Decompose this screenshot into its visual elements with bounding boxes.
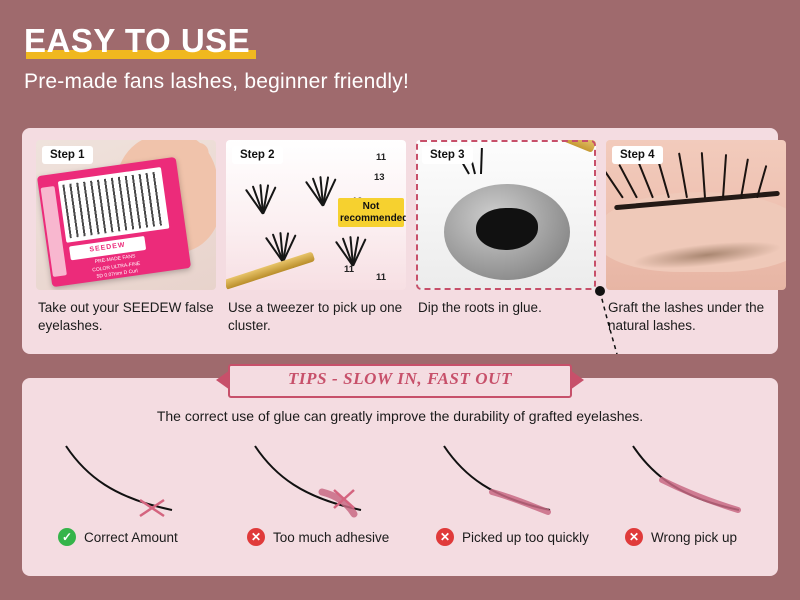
tips-legend-row: ✓ Correct Amount ✕ Too much adhesive ✕ P… (22, 528, 778, 546)
header: EASY TO USE Pre-made fans lashes, beginn… (24, 24, 776, 94)
lash-strand (636, 159, 654, 199)
not-recommended-badge: Not recommended (338, 198, 404, 227)
step-badge-3: Step 3 (422, 146, 473, 164)
tip-item-1: ✓ Correct Amount (22, 528, 211, 546)
cross-circle-icon: ✕ (247, 528, 265, 546)
step-image-1: SEEDEW PRE-MADE FANS COLOR ULTRA-FINE 5D… (36, 140, 216, 290)
lash-tray: SEEDEW PRE-MADE FANS COLOR ULTRA-FINE 5D… (37, 157, 191, 287)
step-image-3: Step 3 (416, 140, 596, 290)
lash-strand (678, 153, 688, 199)
tip-item-3: ✕ Picked up too quickly (400, 528, 589, 546)
poster-root: EASY TO USE Pre-made fans lashes, beginn… (0, 0, 800, 600)
fan-count-label: 11 (376, 152, 386, 163)
tips-panel: TIPS - SLOW IN, FAST OUT The correct use… (22, 378, 778, 576)
step-caption-1: Take out your SEEDEW false eyelashes. (36, 299, 216, 335)
step-card-2: 11 13 12 11 11 11 Not recommended Step 2… (226, 140, 406, 335)
tweezer-illustration (226, 251, 315, 290)
step-badge-4: Step 4 (612, 146, 663, 164)
step-caption-3: Dip the roots in glue. (416, 299, 596, 317)
tips-ribbon-title: TIPS - SLOW IN, FAST OUT (230, 369, 570, 389)
tips-subtitle: The correct use of glue can greatly impr… (22, 408, 778, 424)
page-subtitle: Pre-made fans lashes, beginner friendly! (24, 70, 776, 94)
lash-strand (722, 154, 727, 198)
step-image-4: Step 4 (606, 140, 786, 290)
check-circle-icon: ✓ (58, 528, 76, 546)
step-badge-1: Step 1 (42, 146, 93, 164)
fan-count-label: 11 (344, 264, 354, 275)
tips-ribbon: TIPS - SLOW IN, FAST OUT (228, 364, 572, 398)
step-card-1: SEEDEW PRE-MADE FANS COLOR ULTRA-FINE 5D… (36, 140, 216, 335)
step-caption-2: Use a tweezer to pick up one cluster. (226, 299, 406, 335)
step-card-3: Step 3 Dip the roots in glue. (416, 140, 596, 335)
tip-label-3: Picked up too quickly (462, 530, 589, 545)
tip-label-1: Correct Amount (84, 530, 178, 545)
step-image-2: 11 13 12 11 11 11 Not recommended Step 2 (226, 140, 406, 290)
tip-label-4: Wrong pick up (651, 530, 737, 545)
step-badge-2: Step 2 (232, 146, 283, 164)
tip-label-2: Too much adhesive (273, 530, 389, 545)
page-title: EASY TO USE (24, 24, 250, 57)
step-card-4: Step 4 Graft the lashes under the natura… (606, 140, 786, 335)
tip-item-2: ✕ Too much adhesive (211, 528, 400, 546)
steps-row: SEEDEW PRE-MADE FANS COLOR ULTRA-FINE 5D… (36, 140, 786, 335)
lash-strand (740, 158, 749, 198)
lash-strips (58, 167, 170, 243)
cross-circle-icon: ✕ (625, 528, 643, 546)
lash-strand (606, 169, 624, 198)
steps-panel: SEEDEW PRE-MADE FANS COLOR ULTRA-FINE 5D… (22, 128, 778, 354)
cross-circle-icon: ✕ (436, 528, 454, 546)
fan-count-label: 11 (376, 272, 386, 283)
title-wrap: EASY TO USE (24, 24, 250, 57)
fan-count-label: 13 (374, 172, 385, 183)
tip-item-4: ✕ Wrong pick up (589, 528, 778, 546)
lash-curve-diagrams (22, 436, 778, 528)
step-caption-4: Graft the lashes under the natural lashe… (606, 299, 786, 335)
